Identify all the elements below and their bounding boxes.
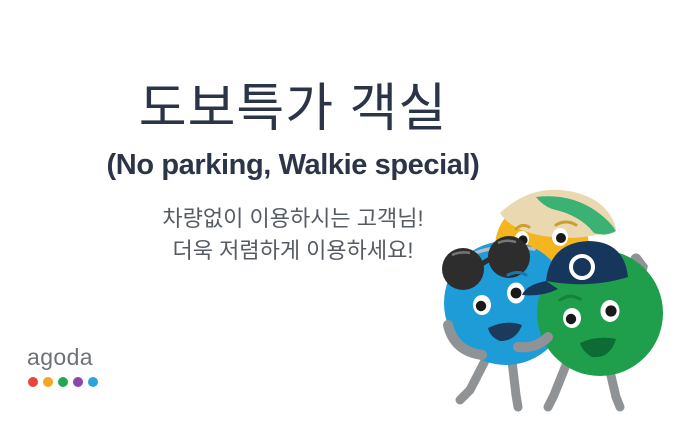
subtext-line-1: 차량없이 이용하시는 고객님!: [0, 203, 586, 234]
agoda-wordmark: agoda: [27, 346, 98, 369]
dot-green-icon: [58, 377, 68, 387]
dot-blue-icon: [88, 377, 98, 387]
page-title-english: (No parking, Walkie special): [0, 137, 586, 182]
dot-purple-icon: [73, 377, 83, 387]
dot-red-icon: [28, 377, 38, 387]
subtext-block: 차량없이 이용하시는 고객님! 더욱 저렴하게 이용하세요!: [0, 181, 586, 265]
headline-block: 도보특가 객실 (No parking, Walkie special) 차량없…: [0, 0, 586, 266]
subtext-line-2: 더욱 저렴하게 이용하세요!: [0, 235, 586, 266]
page-title-korean: 도보특가 객실: [0, 0, 586, 137]
agoda-logo-dots: [27, 377, 98, 387]
promo-banner: 도보특가 객실 (No parking, Walkie special) 차량없…: [0, 0, 700, 437]
dot-orange-icon: [43, 377, 53, 387]
agoda-logo: agoda: [27, 346, 98, 387]
